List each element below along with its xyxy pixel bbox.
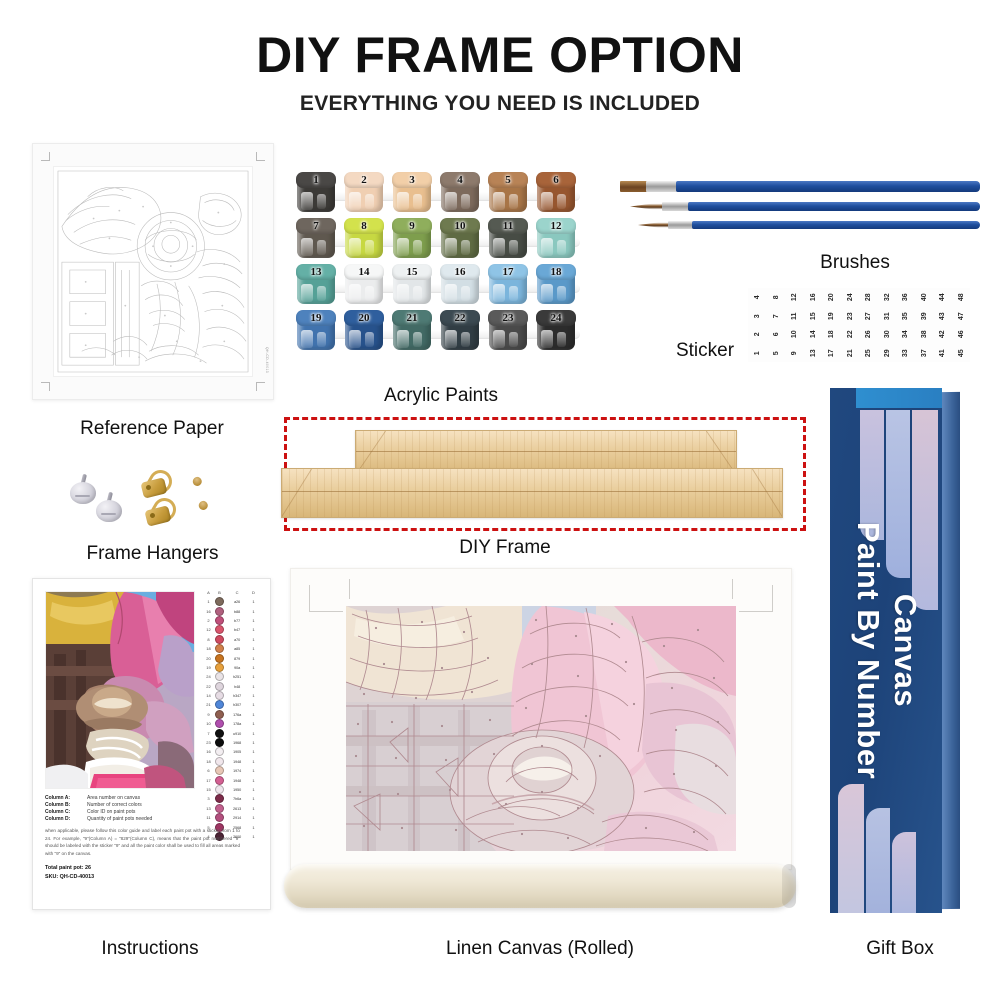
reference-paper-lineart [53,166,253,377]
paint-pot-13: 13 [296,264,336,305]
legend-row: 2b771 [203,616,263,625]
sticker-number: 24 [841,288,860,307]
legend-color-id: 176a [225,712,249,717]
paint-pot-7: 7 [296,218,336,259]
sticker-number: 16 [804,288,823,307]
paint-pot-number: 19 [296,310,336,326]
legend-quantity: 1 [249,646,258,651]
paint-pot-number: 20 [344,310,384,326]
legend-quantity: 1 [249,637,258,642]
legend-row: 619741 [203,766,263,775]
paint-pot-16: 16 [440,264,480,305]
sticker-number: 46 [952,325,971,344]
legend-area-number: 1 [203,599,214,604]
instructions-note: when applicable, please follow this colo… [45,827,240,857]
column-descriptions: Column A:Area number on canvasColumn B:N… [45,795,205,823]
paint-pot-19: 19 [296,310,336,351]
legend-area-number: 16 [203,749,214,754]
legend-quantity: 1 [249,665,258,670]
legend-area-number: 14 [203,693,214,698]
legend-swatch [214,757,225,766]
gift-box-side [942,392,960,909]
legend-swatch [214,738,225,747]
legend-row: 2319681 [203,738,263,747]
caption-frame-hangers: Frame Hangers [65,543,240,565]
sticker-sheet: 4812162024283236404448371115192327313539… [748,288,970,362]
column-key: Column B: [45,802,87,808]
sticker-number: 29 [878,344,897,363]
canvas-roll [284,864,796,908]
paint-pot-3: 3 [392,172,432,213]
paint-pot-row: 192021222324 [296,306,584,352]
legend-color-id: 1968 [225,740,249,745]
legend-area-number: 24 [203,674,214,679]
sticker-number: 26 [859,325,878,344]
legend-header-a: A [203,590,214,595]
legend-row: 12b471 [203,625,263,634]
paint-pot-18: 18 [536,264,576,305]
brushes-group [620,175,980,255]
sticker-number: 21 [841,344,860,363]
sticker-number: 19 [822,307,841,326]
legend-quantity: 1 [249,693,258,698]
legend-quantity: 1 [249,787,258,792]
legend-area-number: 2 [203,618,214,623]
paint-pot-number: 14 [344,264,384,280]
paint-pot-15: 15 [392,264,432,305]
legend-swatch [214,635,225,644]
sticker-number: 47 [952,307,971,326]
legend-quantity: 1 [249,702,258,707]
legend-quantity: 1 [249,815,258,820]
legend-area-number: 18 [203,646,214,651]
paint-pot-21: 21 [392,310,432,351]
reference-paper: QH-CD-40013 [32,143,274,400]
plastic-hook-icon [96,492,122,522]
legend-color-id: a26 [225,599,249,604]
paint-pot-number: 17 [488,264,528,280]
legend-color-id: 7h6a [225,796,249,801]
paint-pot-12: 12 [536,218,576,259]
legend-row: 7u9101 [203,728,263,737]
sticker-number: 33 [896,344,915,363]
legend-area-number: 18 [203,759,214,764]
paint-pot-row: 131415161718 [296,260,584,306]
legend-swatch [214,729,225,738]
page-title: DIY FRAME OPTION [0,26,1000,84]
legend-quantity: 1 [249,768,258,773]
paint-pot-23: 23 [488,310,528,351]
sticker-number: 39 [915,307,934,326]
sticker-number: 41 [933,344,952,363]
paint-pot-number: 15 [392,264,432,280]
diy-frame-highlight [284,417,806,531]
color-legend: A B C D 1a26116b8812b77112b4718a70118a85… [203,589,263,863]
legend-row: 14h3471 [203,691,263,700]
frame-hangers-group [70,470,235,535]
sticker-number: 40 [915,288,934,307]
caption-reference-paper: Reference Paper [32,418,272,440]
legend-row: 8a701 [203,635,263,644]
legend-swatch [214,672,225,681]
plastic-hook-icon [70,474,96,504]
legend-header-c: C [225,590,249,595]
column-key: Column A: [45,795,87,801]
legend-area-number: 19 [203,665,214,670]
sticker-number: 35 [896,307,915,326]
paint-pot-row: 123456 [296,168,584,214]
caption-gift-box: Gift Box [845,938,955,960]
legend-area-number: 8 [203,637,214,642]
sticker-number: 9 [785,344,804,363]
screw-icon [191,475,215,493]
paint-pot-22: 22 [440,310,480,351]
paint-pot-14: 14 [344,264,384,305]
sticker-number: 30 [878,325,897,344]
sticker-number: 45 [952,344,971,363]
sticker-number: 17 [822,344,841,363]
acrylic-paints-group: 123456 789101112 131415161718 1920212223… [296,168,584,353]
legend-row: 9176a1 [203,710,263,719]
legend-row: 1326131 [203,804,263,813]
paint-pot-10: 10 [440,218,480,259]
brush-round-medium [630,202,980,211]
paint-pot-number: 7 [296,218,336,234]
paint-pot-number: 18 [536,264,576,280]
legend-header-b: B [214,590,225,595]
column-value: Area number on canvas [87,795,140,801]
legend-color-id: 1948 [225,759,249,764]
legend-header: A B C D [203,589,263,596]
sticker-number: 2 [748,325,767,344]
legend-quantity: 1 [249,806,258,811]
caption-instructions: Instructions [60,938,240,960]
sticker-number: 5 [767,344,786,363]
legend-color-id: h251 [225,674,249,679]
legend-quantity: 1 [249,609,258,614]
product-infographic: DIY FRAME OPTION EVERYTHING YOU NEED IS … [0,0,1000,1000]
page-subtitle: EVERYTHING YOU NEED IS INCLUDED [0,92,1000,116]
sticker-number-grid: 4812162024283236404448371115192327313539… [748,288,970,362]
legend-color-id: a85 [225,646,249,651]
legend-color-id: 90a [225,665,249,670]
legend-row: 208791 [203,653,263,662]
legend-row: 24h2511 [203,672,263,681]
sticker-number: 22 [841,325,860,344]
legend-color-id: 879 [225,656,249,661]
column-description-row: Column C:Color ID on paint pots [45,809,205,815]
legend-quantity: 1 [249,749,258,754]
legend-swatch [214,776,225,785]
sticker-number: 37 [915,344,934,363]
legend-quantity: 1 [249,825,258,830]
paint-pot-number: 6 [536,172,576,188]
gift-box-title-line2: Paint By Number [851,522,886,779]
legend-quantity: 1 [249,740,258,745]
legend-row: 1719481 [203,775,263,784]
paint-pot-number: 10 [440,218,480,234]
legend-quantity: 1 [249,712,258,717]
sticker-number: 14 [804,325,823,344]
caption-diy-frame: DIY Frame [400,537,610,559]
sticker-number: 28 [859,288,878,307]
legend-area-number: 12 [203,627,214,632]
legend-swatch [214,710,225,719]
sticker-number: 43 [933,307,952,326]
sticker-number: 27 [859,307,878,326]
paint-pot-number: 11 [488,218,528,234]
paint-pot-number: 8 [344,218,384,234]
legend-area-number: 20 [203,656,214,661]
legend-swatch [214,794,225,803]
legend-color-id: a70 [225,637,249,642]
legend-swatch [214,644,225,653]
d-ring-hanger-icon [142,470,172,496]
legend-color-id: b88 [225,609,249,614]
legend-area-number: 17 [203,778,214,783]
legend-row: 21h3071 [203,700,263,709]
caption-linen-canvas: Linen Canvas (Rolled) [415,938,665,960]
legend-quantity: 1 [249,627,258,632]
legend-area-number: 15 [203,787,214,792]
gift-box-title-line1: Canvas [888,594,923,707]
legend-row: 37h6a1 [203,794,263,803]
legend-row: 1a261 [203,597,263,606]
brush-round-fine [638,221,980,229]
sticker-number: 1 [748,344,767,363]
brush-flat [620,181,980,192]
legend-swatch [214,700,225,709]
gift-box: Canvas Paint By Number [830,388,960,913]
legend-color-id: h347 [225,693,249,698]
sticker-number: 42 [933,325,952,344]
legend-row: 1519501 [203,785,263,794]
paint-pot-number: 2 [344,172,384,188]
instructions-artwork [45,591,195,789]
legend-swatch [214,766,225,775]
legend-row: 1619051 [203,747,263,756]
column-key: Column C: [45,809,87,815]
sticker-number: 10 [785,325,804,344]
paint-pot-number: 12 [536,218,576,234]
legend-row: 1819481 [203,757,263,766]
paint-pot-8: 8 [344,218,384,259]
column-description-row: Column D:Quantity of paint pots needed [45,816,205,822]
legend-color-id: u910 [225,731,249,736]
legend-swatch [214,691,225,700]
paint-pot-number: 23 [488,310,528,326]
legend-color-id: 1905 [225,749,249,754]
paint-pot-number: 21 [392,310,432,326]
column-description-row: Column B:Number of correct colors [45,802,205,808]
legend-swatch [214,682,225,691]
paint-pot-1: 1 [296,172,336,213]
legend-color-id: 178a [225,721,249,726]
legend-quantity: 1 [249,796,258,801]
paint-pot-9: 9 [392,218,432,259]
legend-color-id: h48 [225,684,249,689]
paint-pot-number: 9 [392,218,432,234]
legend-swatch [214,804,225,813]
legend-row: 22h481 [203,682,263,691]
paint-pot-20: 20 [344,310,384,351]
legend-swatch [214,607,225,616]
legend-quantity: 1 [249,618,258,623]
legend-swatch [214,813,225,822]
sticker-number: 15 [804,307,823,326]
legend-color-id: 1974 [225,768,249,773]
legend-row: 18a851 [203,644,263,653]
legend-color-id: b47 [225,627,249,632]
caption-brushes: Brushes [760,252,950,274]
paint-pot-number: 16 [440,264,480,280]
paint-pot-4: 4 [440,172,480,213]
paint-pot-number: 24 [536,310,576,326]
sticker-number: 34 [896,325,915,344]
legend-quantity: 1 [249,834,258,839]
legend-area-number: 16 [203,609,214,614]
caption-sticker: Sticker [660,340,750,362]
legend-area-number: 21 [203,702,214,707]
gift-box-title: Canvas Paint By Number [830,388,942,913]
paint-pot-11: 11 [488,218,528,259]
paint-pot-17: 17 [488,264,528,305]
screw-icon [197,499,221,517]
paint-pot-number: 1 [296,172,336,188]
column-value: Quantity of paint pots needed [87,816,152,822]
legend-area-number: 22 [203,684,214,689]
legend-swatch [214,785,225,794]
legend-quantity: 1 [249,731,258,736]
legend-area-number: 7 [203,731,214,736]
sticker-number: 36 [896,288,915,307]
sticker-number: 31 [878,307,897,326]
legend-swatch [214,747,225,756]
sticker-number: 32 [878,288,897,307]
legend-swatch [214,616,225,625]
sticker-number: 8 [767,288,786,307]
sticker-number: 11 [785,307,804,326]
legend-quantity: 1 [249,656,258,661]
column-description-row: Column A:Area number on canvas [45,795,205,801]
legend-color-id: 1950 [225,787,249,792]
legend-quantity: 1 [249,674,258,679]
legend-quantity: 1 [249,721,258,726]
sticker-number: 13 [804,344,823,363]
instructions-sheet: A B C D 1a26116b8812b77112b4718a70118a85… [32,578,271,910]
sticker-number: 44 [933,288,952,307]
d-ring-hanger-icon [146,498,176,524]
legend-header-d: D [249,590,258,595]
frame-bar [281,468,783,518]
paint-pot-number: 22 [440,310,480,326]
paint-pot-5: 5 [488,172,528,213]
caption-acrylic-paints: Acrylic Paints [306,385,576,407]
legend-area-number: 9 [203,712,214,717]
sticker-number: 6 [767,325,786,344]
paint-pot-number: 4 [440,172,480,188]
legend-color-id: 2613 [225,806,249,811]
legend-color-id: 2914 [225,815,249,820]
legend-swatch [214,654,225,663]
legend-color-id: h307 [225,702,249,707]
sticker-number: 25 [859,344,878,363]
paint-pot-number: 5 [488,172,528,188]
legend-color-id: b77 [225,618,249,623]
paint-pot-24: 24 [536,310,576,351]
column-value: Color ID on paint pots [87,809,135,815]
legend-quantity: 1 [249,599,258,604]
sku-line: SKU: QH-CD-40013 [45,874,240,880]
legend-row: 10178a1 [203,719,263,728]
sticker-number: 20 [822,288,841,307]
legend-area-number: 6 [203,768,214,773]
legend-quantity: 1 [249,778,258,783]
sticker-number: 4 [748,288,767,307]
canvas-lineart [346,606,736,851]
paint-pot-2: 2 [344,172,384,213]
legend-row: 1990a1 [203,663,263,672]
sticker-number: 7 [767,307,786,326]
sticker-number: 3 [748,307,767,326]
legend-swatch [214,663,225,672]
legend-swatch [214,719,225,728]
legend-area-number: 23 [203,740,214,745]
legend-color-id: 1948 [225,778,249,783]
legend-swatch [214,597,225,606]
sticker-number: 12 [785,288,804,307]
paint-pot-number: 3 [392,172,432,188]
paint-pot-6: 6 [536,172,576,213]
total-paint-pot: Total paint pot: 26 [45,865,240,871]
gift-box-face: Canvas Paint By Number [830,388,942,913]
legend-row: 1129141 [203,813,263,822]
instructions-totals: Total paint pot: 26 SKU: QH-CD-40013 [45,865,240,883]
legend-row: 16b881 [203,606,263,615]
legend-quantity: 1 [249,684,258,689]
sticker-number: 38 [915,325,934,344]
legend-quantity: 1 [249,759,258,764]
legend-area-number: 10 [203,721,214,726]
sticker-number: 48 [952,288,971,307]
legend-swatch [214,625,225,634]
sticker-number: 23 [841,307,860,326]
linen-canvas-group [290,568,790,908]
reference-paper-sku: QH-CD-40013 [265,347,269,373]
paint-pot-number: 13 [296,264,336,280]
paint-pot-row: 789101112 [296,214,584,260]
column-key: Column D: [45,816,87,822]
column-value: Number of correct colors [87,802,142,808]
canvas-sheet [290,568,792,870]
sticker-number: 18 [822,325,841,344]
